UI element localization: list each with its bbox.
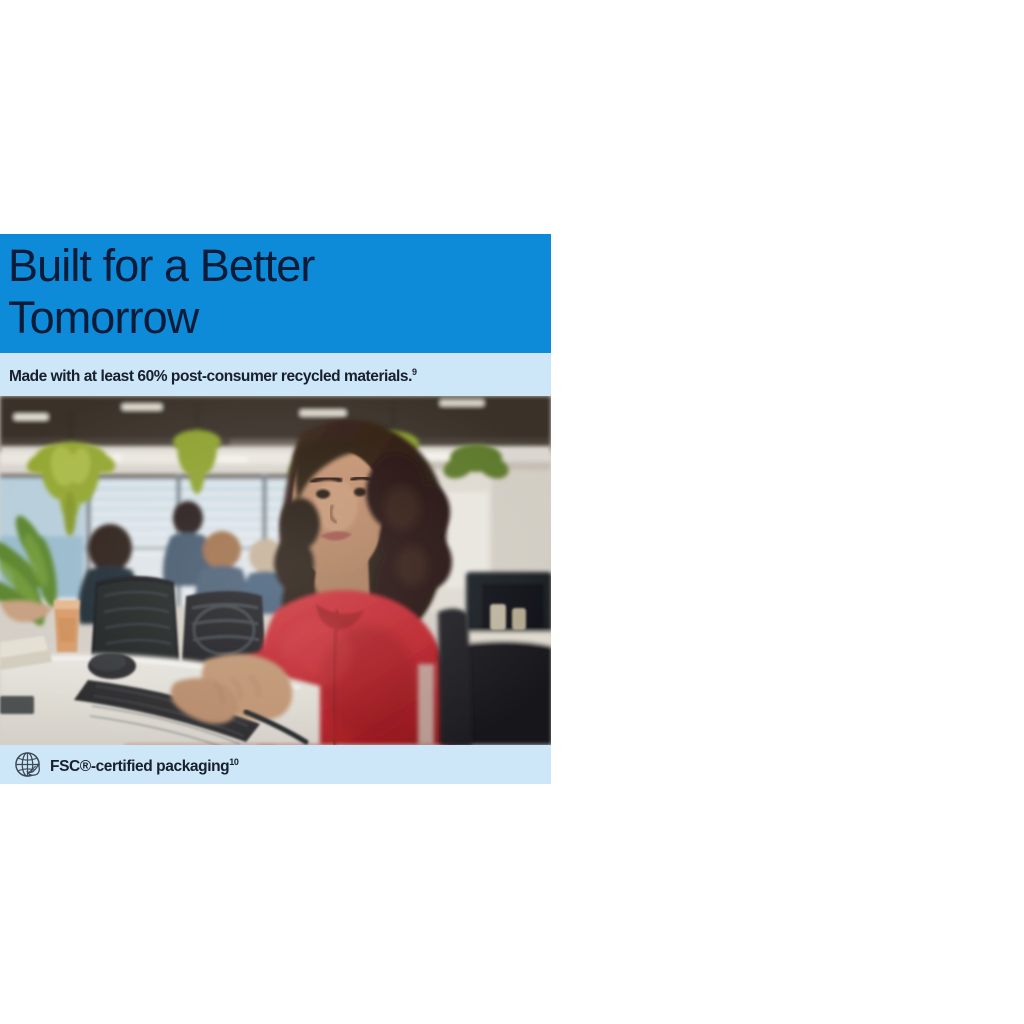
fsc-packaging-footnote-marker: 10 [229, 757, 238, 767]
recycled-materials-footnote-marker: 9 [412, 367, 417, 377]
fsc-packaging-claim-text: FSC®-certified packaging [50, 758, 229, 775]
headline-band: Built for a Better Tomorrow [0, 234, 551, 353]
office-photo [0, 396, 551, 745]
globe-leaf-icon [14, 751, 41, 778]
promo-card: Built for a Better Tomorrow Made with at… [0, 234, 551, 784]
recycled-materials-claim: Made with at least 60% post-consumer rec… [9, 364, 417, 385]
footer-band: FSC®-certified packaging10 [0, 745, 551, 784]
screenshot-canvas: Built for a Better Tomorrow Made with at… [0, 0, 1024, 1024]
fsc-packaging-claim: FSC®-certified packaging10 [50, 754, 238, 775]
page-title: Built for a Better Tomorrow [8, 240, 551, 344]
recycled-materials-claim-text: Made with at least 60% post-consumer rec… [9, 368, 412, 385]
subtitle-band: Made with at least 60% post-consumer rec… [0, 353, 551, 396]
office-photo-illustration [0, 396, 551, 745]
